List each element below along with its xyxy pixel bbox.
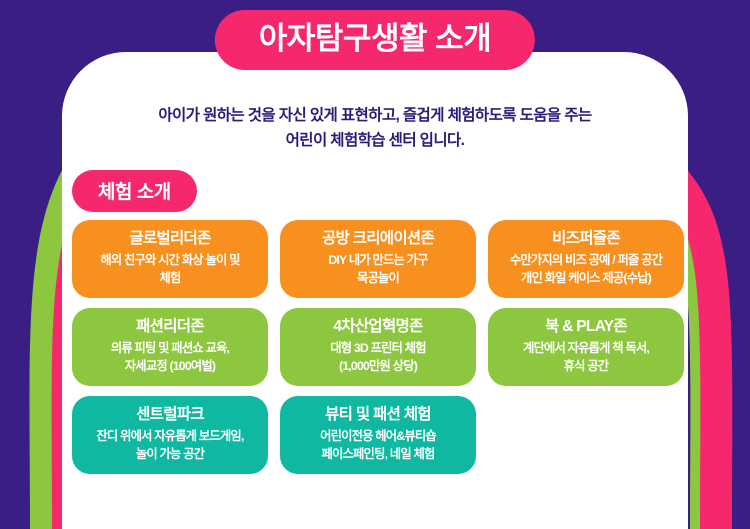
program-card-line-1: 대형 3D 프린터 체험 bbox=[330, 340, 426, 358]
program-card-line-2: 목공놀이 bbox=[357, 270, 399, 288]
program-card-title: 공방 크리에이션존 bbox=[322, 229, 434, 248]
program-card-line-2: 놀이 가능 공간 bbox=[136, 446, 204, 464]
program-card[interactable]: 뷰티 및 패션 체험어린이전용 헤어&뷰티숍페이스페인팅, 네일 체험 bbox=[280, 396, 476, 474]
program-card-title: 센트럴파크 bbox=[136, 405, 204, 424]
program-card-title: 4차산업혁명존 bbox=[333, 317, 422, 336]
program-card-line-2: 체험 bbox=[159, 270, 180, 288]
program-card-line-2: 자세교정 (100여벌) bbox=[125, 358, 215, 376]
program-card-line-1: 의류 피팅 및 패션쇼 교육, bbox=[111, 340, 229, 358]
program-card-line-1: 어린이전용 헤어&뷰티숍 bbox=[320, 428, 436, 446]
poster-stage: 아자탐구생활 소개 아이가 원하는 것을 자신 있게 표현하고, 즐겁게 체험하… bbox=[0, 0, 750, 529]
program-card-line-1: 계단에서 자유롭게 책 독서, bbox=[523, 340, 649, 358]
program-card[interactable]: 글로벌리더존해외 친구와 시간 화상 놀이 및체험 bbox=[72, 220, 268, 298]
program-card-line-2: 휴식 공간 bbox=[564, 358, 609, 376]
program-card-title: 북 & PLAY존 bbox=[545, 317, 627, 336]
program-card-line-1: 해외 친구와 시간 화상 놀이 및 bbox=[100, 252, 239, 270]
program-card-line-1: DIY 내가 만드는 가구 bbox=[328, 252, 427, 270]
program-card[interactable]: 패션리더존의류 피팅 및 패션쇼 교육,자세교정 (100여벌) bbox=[72, 308, 268, 386]
program-card-title: 뷰티 및 패션 체험 bbox=[325, 405, 431, 424]
program-card-title: 비즈퍼즐존 bbox=[552, 229, 620, 248]
program-card-line-1: 수만가지의 비즈 공예 / 퍼즐 공간 bbox=[510, 252, 662, 270]
intro-text: 아이가 원하는 것을 자신 있게 표현하고, 즐겁게 체험하도록 도움을 주는 … bbox=[0, 103, 750, 153]
program-card[interactable]: 4차산업혁명존대형 3D 프린터 체험(1,000만원 상당) bbox=[280, 308, 476, 386]
page-title: 아자탐구생활 소개 bbox=[215, 10, 535, 70]
program-card-title: 글로벌리더존 bbox=[129, 229, 210, 248]
program-card-line-2: (1,000만원 상당) bbox=[339, 358, 417, 376]
program-card[interactable]: 비즈퍼즐존수만가지의 비즈 공예 / 퍼즐 공간개인 화일 케이스 제공(수납) bbox=[488, 220, 684, 298]
intro-line-1: 아이가 원하는 것을 자신 있게 표현하고, 즐겁게 체험하도록 도움을 주는 bbox=[0, 103, 750, 128]
program-card-line-2: 페이스페인팅, 네일 체험 bbox=[322, 446, 435, 464]
program-card[interactable]: 센트럴파크잔디 위에서 자유롭게 보드게임,놀이 가능 공간 bbox=[72, 396, 268, 474]
program-card-grid: 글로벌리더존해외 친구와 시간 화상 놀이 및체험공방 크리에이션존DIY 내가… bbox=[72, 220, 692, 474]
program-card-line-1: 잔디 위에서 자유롭게 보드게임, bbox=[96, 428, 243, 446]
program-card[interactable]: 북 & PLAY존계단에서 자유롭게 책 독서,휴식 공간 bbox=[488, 308, 684, 386]
intro-line-2: 어린이 체험학습 센터 입니다. bbox=[0, 128, 750, 153]
program-card-title: 패션리더존 bbox=[136, 317, 204, 336]
section-badge: 체험 소개 bbox=[72, 170, 197, 212]
program-card-line-2: 개인 화일 케이스 제공(수납) bbox=[521, 270, 651, 288]
program-card[interactable]: 공방 크리에이션존DIY 내가 만드는 가구목공놀이 bbox=[280, 220, 476, 298]
